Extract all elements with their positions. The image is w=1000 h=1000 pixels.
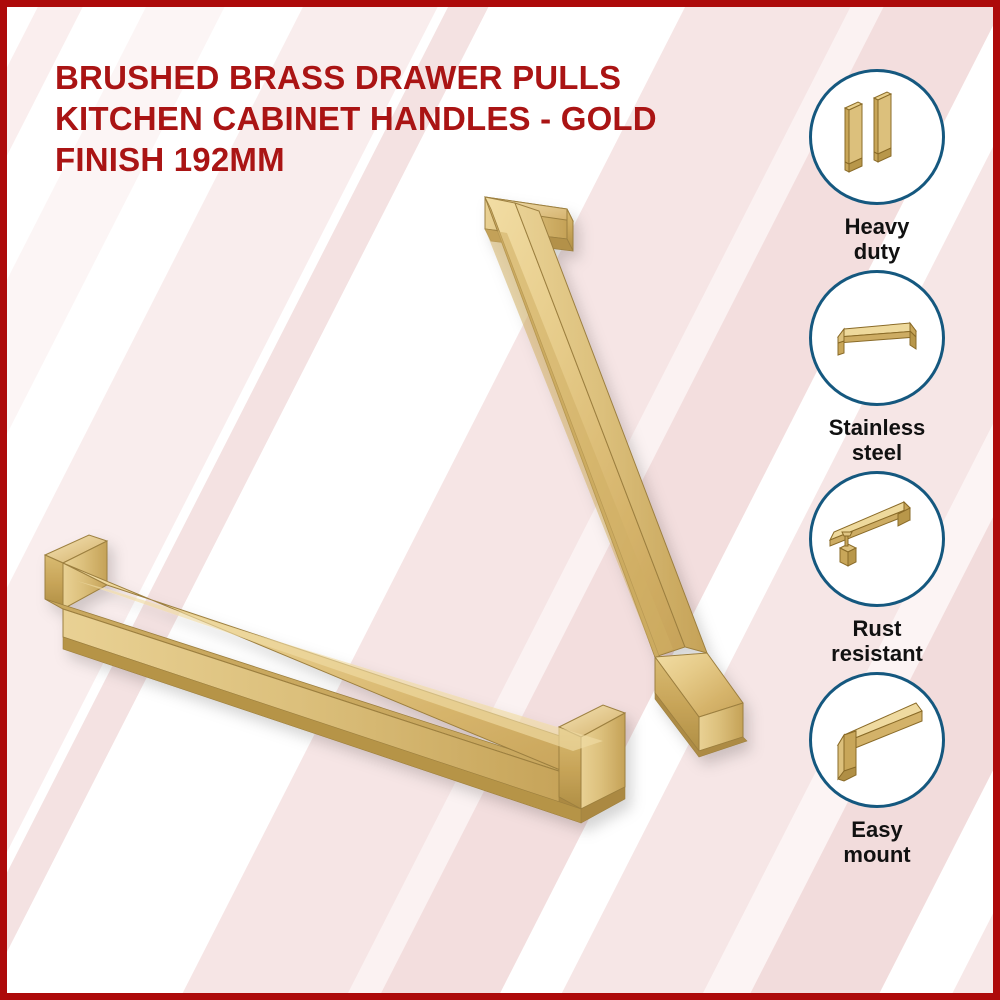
feature-label-line-1: Stainless bbox=[779, 415, 975, 440]
feature-icon-circle bbox=[809, 471, 945, 607]
feature-label: Stainless steel bbox=[779, 415, 975, 465]
product-handles-illustration bbox=[7, 137, 797, 957]
feature-label-line-2: mount bbox=[779, 842, 975, 867]
product-photo bbox=[7, 137, 797, 957]
feature-label-line-2: steel bbox=[779, 440, 975, 465]
feature-item[interactable]: Stainless steel bbox=[779, 270, 975, 465]
handle-right bbox=[485, 197, 747, 757]
two-vertical-handles-icon bbox=[812, 72, 936, 196]
feature-label-line-1: Heavy bbox=[779, 214, 975, 239]
feature-label-line-1: Easy bbox=[779, 817, 975, 842]
feature-icon-circle bbox=[809, 270, 945, 406]
title-line-1: BRUSHED BRASS DRAWER PULLS bbox=[55, 57, 755, 98]
feature-item[interactable]: Rust resistant bbox=[779, 471, 975, 666]
handle-with-screw-icon bbox=[812, 474, 936, 598]
feature-label-line-2: resistant bbox=[779, 641, 975, 666]
title-line-2: KITCHEN CABINET HANDLES - GOLD bbox=[55, 98, 755, 139]
feature-item[interactable]: Easy mount bbox=[779, 672, 975, 867]
handle-left bbox=[45, 535, 625, 823]
feature-label-line-2: duty bbox=[779, 239, 975, 264]
feature-label: Heavy duty bbox=[779, 214, 975, 264]
feature-icon-circle bbox=[809, 69, 945, 205]
poster-canvas: BRUSHED BRASS DRAWER PULLS KITCHEN CABIN… bbox=[7, 7, 993, 993]
feature-label-line-1: Rust bbox=[779, 616, 975, 641]
horizontal-handle-icon bbox=[812, 273, 936, 397]
feature-icon-circle bbox=[809, 672, 945, 808]
feature-label: Easy mount bbox=[779, 817, 975, 867]
feature-badges: Heavy duty bbox=[779, 69, 975, 873]
product-listing-poster: BRUSHED BRASS DRAWER PULLS KITCHEN CABIN… bbox=[0, 0, 1000, 1000]
feature-label: Rust resistant bbox=[779, 616, 975, 666]
feature-item[interactable]: Heavy duty bbox=[779, 69, 975, 264]
angled-handle-icon bbox=[812, 675, 936, 799]
